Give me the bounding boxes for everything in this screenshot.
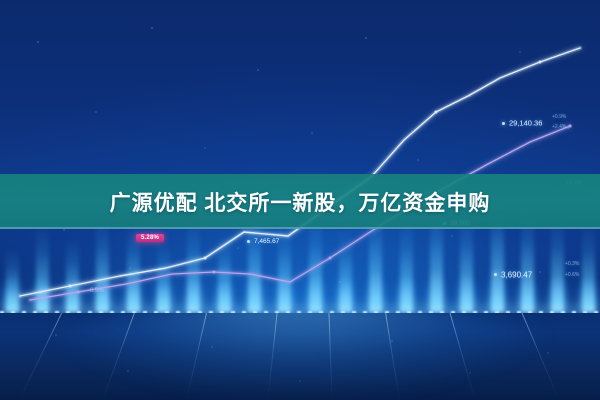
- trend-line-primary-glow: [20, 48, 580, 296]
- value-text: 3,690.47: [501, 270, 532, 279]
- label-3690: 3,690.47: [494, 270, 532, 279]
- trend-node: [329, 257, 332, 260]
- trend-node: [213, 271, 216, 274]
- trend-node: [77, 291, 80, 294]
- page-title: 广源优配 北交所一新股，万亿资金申购: [0, 174, 600, 229]
- marker-dot: [502, 122, 505, 125]
- pct-plus-0-6: +0.6%: [565, 272, 579, 278]
- volume-bar: [551, 216, 564, 312]
- pct-tag-right2: +2.4%: [552, 124, 566, 130]
- marker-dot: [494, 273, 497, 276]
- volume-bar: [400, 218, 413, 312]
- volume-bar: [582, 224, 595, 312]
- trend-node: [539, 61, 542, 64]
- trend-node: [569, 125, 572, 128]
- label-7465: 7,465.67: [247, 238, 279, 245]
- floor-particles: [0, 313, 600, 400]
- pct-badge-5-28: 5.28%: [136, 234, 164, 242]
- perspective-floor: [0, 313, 600, 400]
- pct-plus-0-3: +0.3%: [565, 261, 579, 267]
- banner-image: 29,140.3619,5807,465.673,690.475.28%-0.5…: [0, 0, 600, 400]
- value-text: 29,140.36: [509, 119, 542, 128]
- marker-dot: [247, 240, 250, 243]
- background-particles: [0, 0, 600, 315]
- volume-bar: [96, 216, 109, 312]
- trend-line-primary: [20, 48, 580, 296]
- value-text: 7,465.67: [254, 238, 279, 245]
- label-29140: 29,140.36: [502, 118, 542, 128]
- trend-node: [204, 257, 207, 260]
- pct-minus-0-5: -0.5%: [88, 288, 104, 294]
- trend-node: [435, 111, 438, 114]
- pct-tag-right: +0.9%: [552, 114, 566, 120]
- volume-bar: [187, 220, 200, 312]
- trend-node: [69, 285, 72, 288]
- volume-bar: [278, 222, 291, 312]
